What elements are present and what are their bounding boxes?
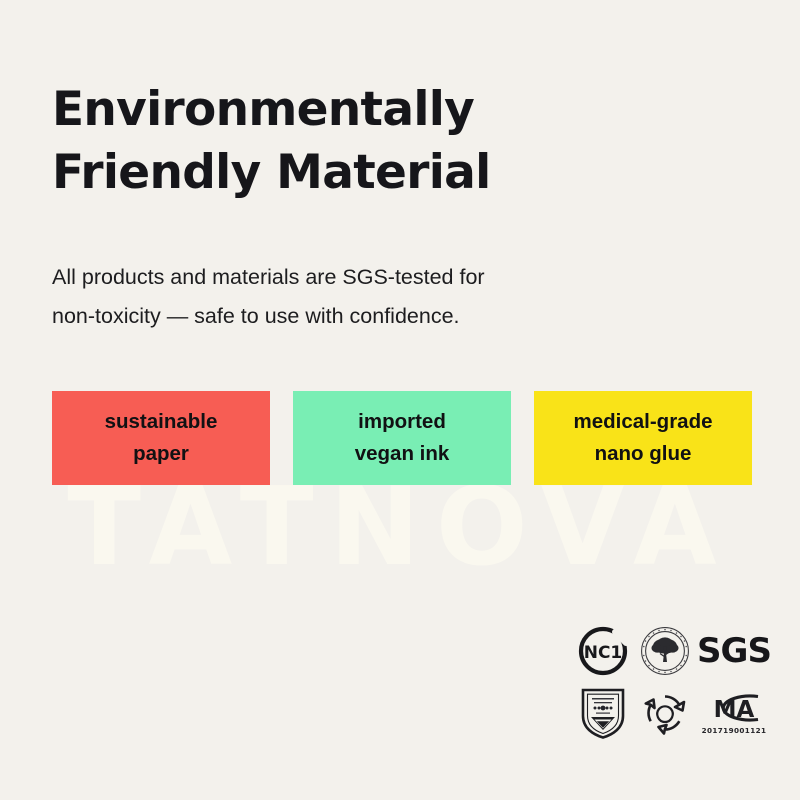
- certification-badge-row-2: MA 201719001121: [572, 682, 772, 744]
- cma-certification-badge: MA 201719001121: [696, 684, 772, 742]
- page-description-line-2: non-toxicity — safe to use with confiden…: [52, 297, 672, 337]
- sgs-certification-badge: SGS: [696, 622, 772, 680]
- material-chip-group: sustainable paper imported vegan ink med…: [52, 391, 752, 485]
- material-chip-medical-grade-nano-glue: medical-grade nano glue: [534, 391, 752, 485]
- certification-badge-group: NC1: [572, 620, 772, 744]
- certification-badge-row-1: NC1: [572, 620, 772, 682]
- page-title: Environmentally Friendly Material: [52, 79, 712, 203]
- tree-seal-certification-badge: [634, 622, 696, 680]
- page-title-line-1: Environmentally: [52, 79, 712, 141]
- poster-canvas: TATNOVA Environmentally Friendly Materia…: [0, 0, 800, 800]
- svg-text:NC1: NC1: [584, 643, 623, 663]
- material-chip-label-line-1: medical-grade: [574, 406, 713, 438]
- recycling-certification-badge: [634, 684, 696, 742]
- sgs-logo-text: SGS: [697, 634, 771, 668]
- material-chip-label-line-1: sustainable: [105, 406, 218, 438]
- svg-text:MA: MA: [714, 697, 755, 723]
- page-description-line-1: All products and materials are SGS-teste…: [52, 258, 672, 298]
- shield-certification-badge: [572, 684, 634, 742]
- material-chip-label-line-2: vegan ink: [355, 438, 450, 470]
- nc1-certification-badge: NC1: [572, 622, 634, 680]
- brand-watermark: TATNOVA: [0, 474, 800, 582]
- page-title-line-2: Friendly Material: [52, 142, 712, 204]
- material-chip-label-line-2: paper: [133, 438, 189, 470]
- cma-certification-code: 201719001121: [702, 726, 767, 735]
- page-description: All products and materials are SGS-teste…: [52, 258, 672, 338]
- material-chip-label-line-1: imported: [358, 406, 446, 438]
- material-chip-label-line-2: nano glue: [595, 438, 692, 470]
- material-chip-sustainable-paper: sustainable paper: [52, 391, 270, 485]
- material-chip-imported-vegan-ink: imported vegan ink: [293, 391, 511, 485]
